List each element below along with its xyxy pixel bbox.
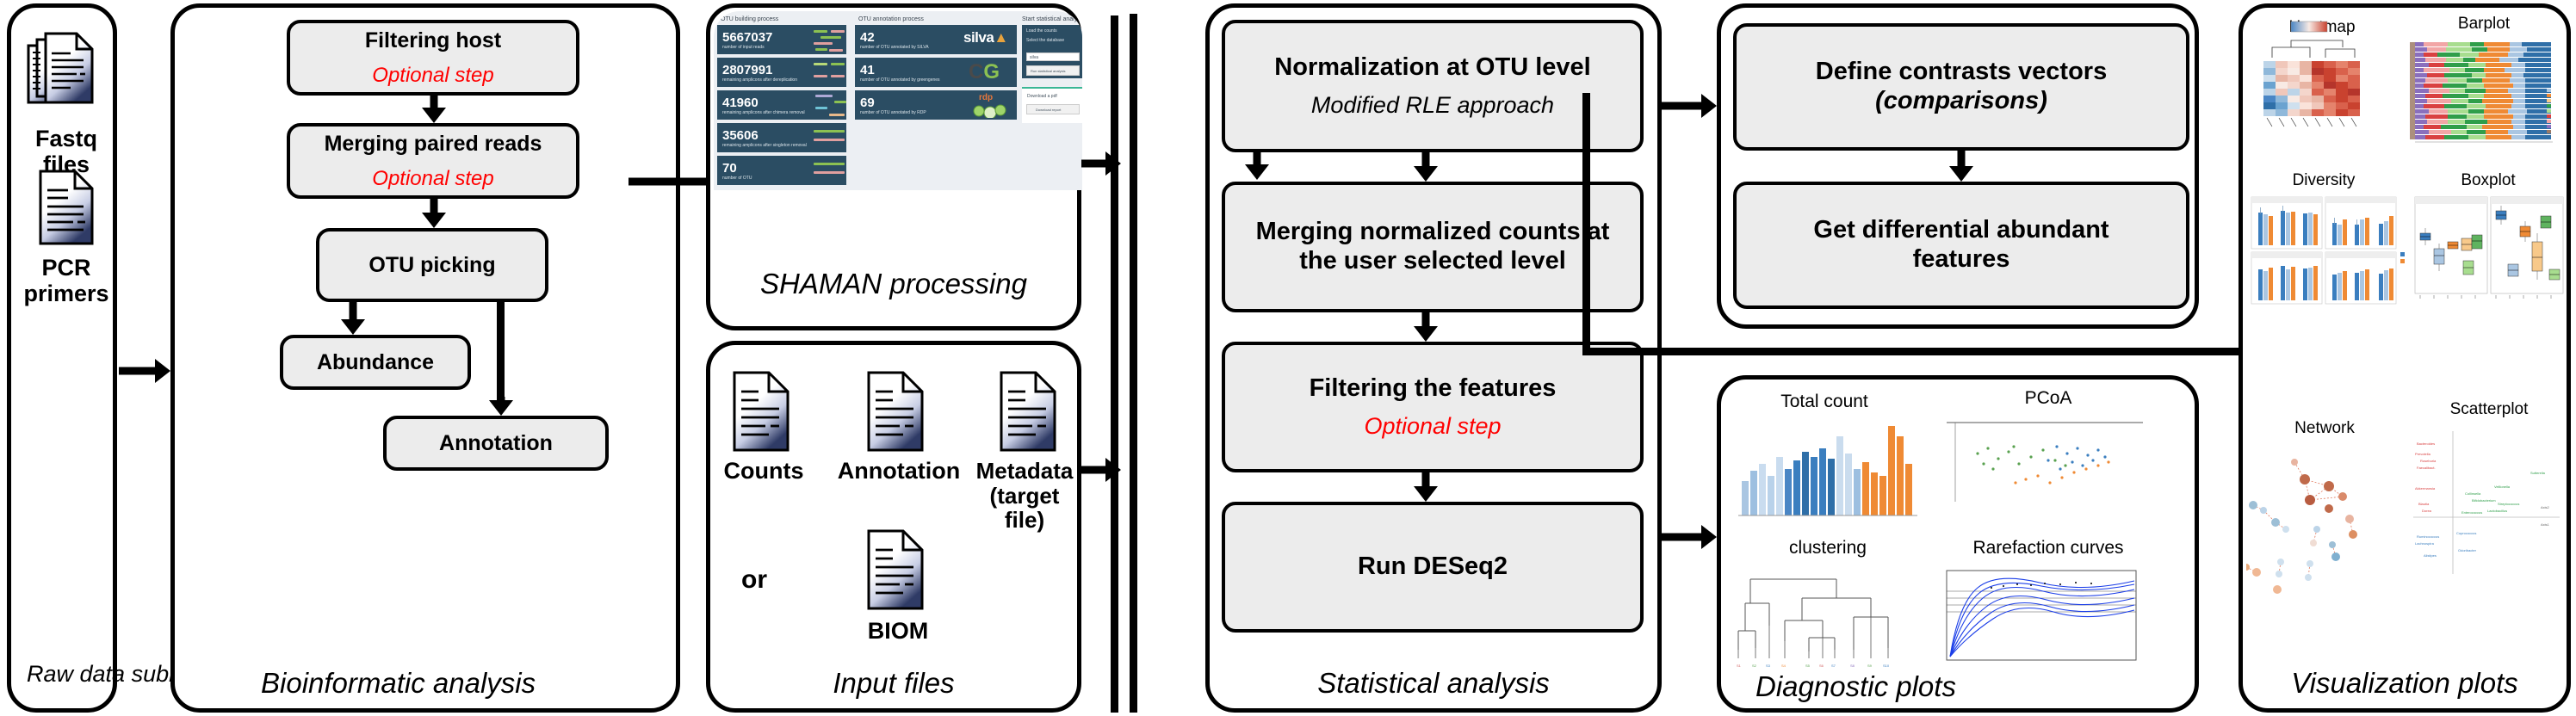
svg-text:Axis2: Axis2 — [2541, 505, 2550, 509]
line-otu-to-annotation — [497, 302, 505, 407]
panel-raw-data: Fastq files — [7, 3, 117, 713]
step-normalization[interactable]: Normalization at OTU level Modified RLE … — [1222, 20, 1644, 152]
visualization-plot-barplot — [2405, 39, 2565, 164]
metadata-file-caption-text: Metadata (target file) — [976, 458, 1074, 533]
pcr-primers-icon — [35, 168, 101, 247]
arrow-shaman-to-statistical — [1081, 151, 1121, 176]
step-filtering-host-note: Optional step — [372, 64, 493, 88]
svg-text:Alistipes: Alistipes — [2424, 553, 2437, 558]
step-otu-picking[interactable]: OTU picking — [316, 228, 548, 302]
annotation-file-icon — [864, 369, 929, 455]
step-define-contrasts[interactable]: Define contrasts vectors (comparisons) — [1733, 23, 2189, 151]
arrow-merging-to-filtering — [1413, 312, 1439, 342]
visualization-plot-title-diversity: Diversity — [2246, 171, 2401, 190]
step-normalization-note: Modified RLE approach — [1311, 92, 1554, 119]
shaman-card-dereplication-caption: remaining amplicons after dereplication — [722, 77, 797, 83]
svg-text:Axis1: Axis1 — [2541, 522, 2550, 527]
arrow-otu-to-abundance — [340, 302, 366, 335]
shaman-card-chimera-caption: remaining amplicons after chimera remova… — [722, 110, 805, 115]
svg-text:Bifidobacterium: Bifidobacterium — [2472, 498, 2496, 503]
diagnostic-plot-rarefaction — [1940, 564, 2146, 674]
svg-text:S6: S6 — [1819, 664, 1824, 668]
shaman-card-rdp-value: 69 — [860, 96, 926, 110]
arrow-statistical-to-contrasts — [1662, 93, 1717, 119]
heatmap-color-scale — [2289, 20, 2329, 35]
diagnostic-plot-title-total-count: Total count — [1730, 392, 1919, 412]
step-merging-normalized-counts-title: Merging normalized counts at the user se… — [1243, 218, 1622, 275]
silva-logo-icon: silva▲ — [963, 29, 1008, 46]
step-filtering-features-title: Filtering the features — [1310, 374, 1557, 404]
annotation-file-caption: Annotation — [817, 459, 981, 485]
shaman-screenshot[interactable]: OTU building process OTU annotation proc… — [714, 11, 1082, 190]
shaman-card-otu-count-value: 70 — [722, 161, 752, 176]
arrow-normalization-to-merging — [1244, 152, 1270, 180]
visualization-plot-network — [2246, 443, 2400, 603]
shaman-card-singleton-value: 35606 — [722, 128, 807, 143]
visualization-plot-title-scatterplot: Scatterplot — [2412, 400, 2567, 419]
panel-shaman-processing: OTU building process OTU annotation proc… — [706, 3, 1081, 330]
shaman-card-otu-count-caption: number of OTU — [722, 176, 752, 181]
svg-text:Sutterella: Sutterella — [2530, 471, 2546, 475]
diagnostic-plot-title-pcoa: PCoA — [1936, 388, 2160, 409]
step-filtering-features[interactable]: Filtering the features Optional step — [1222, 342, 1644, 472]
step-filtering-features-note: Optional step — [1364, 413, 1501, 440]
shaman-card-dereplication: 2807991 remaining amplicons after derepl… — [717, 58, 846, 87]
diagnostic-plot-total-count — [1733, 419, 1923, 522]
shaman-card-input-reads-caption: number of input reads — [722, 45, 772, 50]
panel-input-files-label: Input files — [710, 667, 1077, 700]
arrow-bus-to-diagnostic — [1662, 525, 1717, 549]
shaman-download-button-label: Download report — [1036, 108, 1061, 112]
svg-text:Collinsella: Collinsella — [2465, 491, 2481, 496]
shaman-database-select[interactable]: silva — [1026, 52, 1080, 61]
diagnostic-plot-pcoa — [1936, 416, 2152, 522]
step-otu-picking-title: OTU picking — [368, 253, 495, 278]
arrow-filtering-to-merging — [421, 96, 447, 123]
diagnostic-plot-title-rarefaction: Rarefaction curves — [1936, 538, 2160, 559]
panel-diagnostic-plots: Total count — [1717, 375, 2199, 713]
svg-text:Blautia: Blautia — [2418, 502, 2430, 506]
panel-statistical-label: Statistical analysis — [1210, 667, 1657, 700]
step-run-deseq2[interactable]: Run DESeq2 — [1222, 502, 1644, 633]
diversity-legend — [2400, 250, 2412, 268]
shaman-card-silva-value: 42 — [860, 30, 929, 45]
panel-input-files: Counts Annotation — [706, 341, 1081, 713]
biom-file-caption: BIOM — [831, 619, 965, 645]
arrow-normalization-to-merging-inner — [1413, 152, 1439, 182]
panel-shaman-label-text: SHAMAN processing — [760, 268, 1027, 299]
panel-visualization-label: Visualization plots — [2243, 667, 2567, 700]
visualization-plot-title-network: Network — [2251, 419, 2398, 438]
shaman-run-analysis-label: Run statistical analysis — [1031, 69, 1065, 73]
shaman-card-rdp-caption: number of OTU annotated by RDP — [860, 110, 926, 115]
svg-text:S10: S10 — [1883, 664, 1890, 668]
step-filtering-host-title: Filtering host — [365, 28, 501, 53]
step-annotation-title: Annotation — [439, 431, 553, 456]
step-define-contrasts-note: (comparisons) — [1875, 87, 2047, 116]
svg-text:Roseburia: Roseburia — [2420, 459, 2437, 463]
step-abundance[interactable]: Abundance — [280, 335, 471, 390]
bus-statistical-riser — [1582, 93, 1590, 351]
connector-shaman-stub — [1130, 14, 1137, 713]
panel-shaman-label: SHAMAN processing — [710, 268, 1077, 300]
shaman-database-select-value: silva — [1030, 55, 1038, 60]
pcr-primers-caption: PCR primers — [11, 256, 121, 306]
shaman-sidebar-heading: Load the counts — [1026, 28, 1064, 34]
shaman-download-button[interactable]: Download report — [1026, 104, 1080, 114]
shaman-card-otu-count: 70 number of OTU — [717, 156, 846, 185]
panel-bioinformatic-label: Bioinformatic analysis — [175, 667, 676, 700]
visualization-plot-diversity — [2250, 195, 2398, 307]
svg-text:Odoribacter: Odoribacter — [2458, 548, 2477, 552]
shaman-card-singleton: 35606 remaining amplicons after singleto… — [717, 123, 846, 152]
step-merging-paired-reads-title: Merging paired reads — [325, 132, 542, 157]
shaman-download-heading: Download a pdf — [1027, 94, 1057, 99]
step-get-differential-features[interactable]: Get differential abundant features — [1733, 182, 2189, 309]
panel-diagnostic-label: Diagnostic plots — [1721, 670, 2195, 703]
pcr-primers-caption-text: PCR primers — [23, 255, 108, 306]
svg-text:S9: S9 — [1867, 664, 1873, 668]
arrow-otu-to-annotation-head — [488, 397, 514, 416]
step-abundance-title: Abundance — [317, 350, 434, 375]
panel-raw-data-label: Raw data submission — [11, 662, 113, 688]
shaman-card-greengenes-value: 41 — [860, 63, 940, 77]
greengenes-logo-icon: CG — [969, 60, 1000, 84]
svg-text:Lachnospira: Lachnospira — [2415, 541, 2435, 546]
arrow-merging-to-otu — [421, 199, 447, 228]
shaman-col-heading-annotation: OTU annotation process — [858, 16, 924, 22]
svg-text:S2: S2 — [1752, 664, 1757, 668]
shaman-run-analysis-button[interactable]: Run statistical analysis — [1026, 65, 1080, 76]
diagnostic-plot-title-clustering: clustering — [1733, 538, 1923, 559]
svg-text:Streptococcus: Streptococcus — [2498, 502, 2519, 506]
svg-text:Lactobacillus: Lactobacillus — [2487, 509, 2507, 513]
step-merging-paired-reads[interactable]: Merging paired reads Optional step — [287, 123, 579, 199]
metadata-file-caption: Metadata (target file) — [969, 459, 1081, 533]
visualization-plot-title-barplot: Barplot — [2406, 15, 2561, 34]
panel-statistical-analysis: Normalization at OTU level Modified RLE … — [1205, 3, 1662, 713]
svg-text:Bacteroides: Bacteroides — [2417, 441, 2435, 446]
shaman-card-singleton-caption: remaining amplicons after singleton remo… — [722, 143, 807, 148]
svg-text:Dorea: Dorea — [2422, 509, 2432, 513]
svg-text:S3: S3 — [1766, 664, 1771, 668]
fastq-files-icon — [23, 30, 109, 125]
step-merging-paired-reads-note: Optional step — [372, 167, 493, 191]
barplot-legend — [2546, 82, 2570, 135]
counts-file-icon — [729, 369, 795, 455]
svg-text:S8: S8 — [1850, 664, 1855, 668]
svg-text:Faecalibact.: Faecalibact. — [2417, 466, 2436, 470]
visualization-plot-heatmap — [2260, 39, 2389, 145]
arrow-contrasts-to-differential — [1948, 151, 1974, 182]
metadata-file-icon — [996, 369, 1062, 455]
svg-text:Akkermansia: Akkermansia — [2415, 486, 2436, 491]
visualization-plot-title-boxplot: Boxplot — [2415, 171, 2561, 190]
step-annotation[interactable]: Annotation — [383, 416, 609, 471]
step-filtering-host[interactable]: Filtering host Optional step — [287, 20, 579, 96]
step-merging-normalized-counts[interactable]: Merging normalized counts at the user se… — [1222, 182, 1644, 312]
panel-bioinformatic-analysis: Filtering host Optional step Merging pai… — [170, 3, 680, 713]
step-run-deseq2-title: Run DESeq2 — [1358, 552, 1508, 582]
svg-text:S5: S5 — [1805, 664, 1811, 668]
shaman-card-silva-caption: number of OTU annotated by SILVA — [860, 45, 929, 50]
shaman-card-chimera-value: 41960 — [722, 96, 805, 110]
svg-text:Coprococcus: Coprococcus — [2456, 531, 2476, 535]
connector-bus-to-statistical — [1111, 15, 1118, 713]
step-get-differential-features-title: Get differential abundant features — [1780, 216, 2142, 274]
svg-text:Veillonella: Veillonella — [2494, 485, 2511, 489]
svg-text:S1: S1 — [1737, 664, 1742, 668]
shaman-col-heading-stats: Start statistical analysis — [1022, 16, 1082, 22]
shaman-card-input-reads-value: 5667037 — [722, 30, 772, 45]
panel-contrasts: Define contrasts vectors (comparisons) G… — [1717, 3, 2199, 329]
shaman-sidebar-select-label: Select the database — [1026, 38, 1064, 43]
svg-text:Ruminococcus: Ruminococcus — [2417, 534, 2439, 539]
shaman-card-dereplication-value: 2807991 — [722, 63, 797, 77]
arrow-inputfiles-to-statistical — [1081, 458, 1121, 482]
input-files-or-connector: or — [741, 565, 767, 595]
step-normalization-title: Normalization at OTU level — [1274, 53, 1590, 83]
svg-text:Enterococcus: Enterococcus — [2461, 510, 2482, 515]
step-define-contrasts-title: Define contrasts vectors — [1816, 58, 2107, 87]
visualization-plot-boxplot — [2412, 195, 2565, 307]
panel-visualization-plots: Heatmap — [2239, 3, 2571, 713]
diagnostic-plot-clustering: S1S2 S3S4 S5S6 S7S8 S9S10 — [1733, 564, 1923, 674]
counts-file-caption: Counts — [714, 459, 814, 485]
arrow-rawdata-to-bioinformatic — [119, 358, 170, 384]
shaman-col-heading-otu: OTU building process — [721, 16, 778, 22]
shaman-card-greengenes-caption: number of OTU annotated by greengenes — [860, 77, 940, 83]
workflow-diagram: Fastq files — [0, 0, 2576, 716]
arrow-filtering-to-deseq2 — [1413, 472, 1439, 502]
visualization-plot-scatterplot: Bacteroides Prevotella Roseburia Faecali… — [2412, 426, 2565, 589]
svg-text:S4: S4 — [1781, 664, 1786, 668]
biom-file-icon — [864, 528, 929, 614]
svg-text:S7: S7 — [1831, 664, 1836, 668]
svg-text:Prevotella: Prevotella — [2415, 452, 2431, 456]
